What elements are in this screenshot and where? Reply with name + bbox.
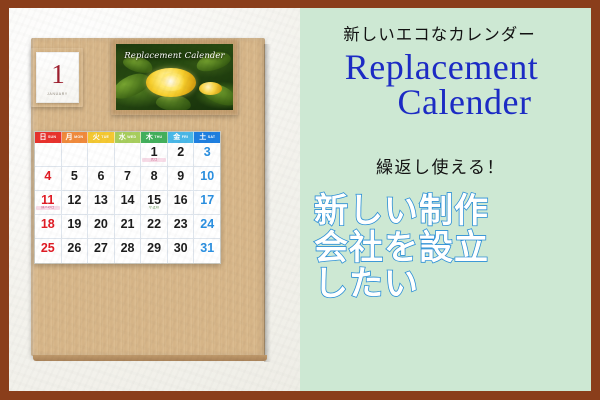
weekday-header-sat: 土SAT — [194, 132, 220, 143]
calendar-day-number: 21 — [115, 218, 141, 231]
rose-photo: Replacement Calender — [116, 44, 233, 110]
calendar-day-number: 25 — [35, 242, 61, 255]
headline-block: 新しい制作 会社を設立 したい — [314, 193, 585, 303]
calendar-day-number: 28 — [115, 242, 141, 255]
calendar-day-cell[interactable]: 5 — [62, 167, 89, 191]
photo-caption: Replacement Calender — [116, 51, 233, 61]
calendar-day-number: 11 — [35, 194, 61, 207]
weekday-kanji: 日 — [39, 134, 46, 141]
calendar-day-cell[interactable]: 21 — [115, 215, 142, 239]
board-shadow — [264, 44, 271, 362]
calendar-weekday-header: 日SUN月MON火TUE水WED木THU金FRI土SAT — [35, 132, 220, 143]
calendar-day-number: 17 — [194, 194, 220, 207]
weekday-abbr: FRI — [182, 136, 188, 140]
calendar-day-cell[interactable]: 30 — [168, 239, 195, 263]
tagline-sub: 繰返し使える！ — [300, 153, 581, 178]
poster-frame-inner: 1 JANUARY Replacement Calender — [9, 8, 591, 391]
calendar-day-number: 13 — [88, 194, 114, 207]
calendar-empty-cell — [115, 143, 142, 167]
calendar-week-row: 45678910 — [35, 167, 220, 191]
calendar-day-number: 10 — [194, 170, 220, 183]
month-name: JANUARY — [47, 92, 68, 96]
calendar-day-number: 29 — [141, 242, 167, 255]
calendar-empty-cell — [62, 143, 89, 167]
month-plate-frame: 1 JANUARY — [31, 48, 83, 107]
calendar-day-number: 7 — [115, 170, 141, 183]
calendar-day-cell[interactable]: 2 — [168, 143, 195, 167]
calendar-day-number: 3 — [194, 146, 220, 159]
calendar-day-note: 小正月 — [142, 206, 166, 210]
weekday-kanji: 金 — [173, 134, 180, 141]
product-photo-panel: 1 JANUARY Replacement Calender — [9, 8, 300, 391]
calendar-day-number: 20 — [88, 218, 114, 231]
weekday-header-mon: 月MON — [62, 132, 89, 143]
weekday-header-wed: 水WED — [115, 132, 142, 143]
calendar-day-number: 22 — [141, 218, 167, 231]
board-bottom-lip — [33, 355, 267, 361]
calendar-day-number: 30 — [168, 242, 194, 255]
tagline-top: 新しいエコなカレンダー — [300, 21, 579, 45]
calendar-day-cell[interactable]: 7 — [115, 167, 142, 191]
calendar-day-cell[interactable]: 27 — [88, 239, 115, 263]
weekday-abbr: WED — [127, 136, 136, 140]
calendar-day-cell[interactable]: 14 — [115, 191, 142, 215]
calendar-week-row: 18192021222324 — [35, 215, 220, 239]
weekday-header-tue: 火TUE — [88, 132, 115, 143]
calendar-day-number: 4 — [35, 170, 61, 183]
headline-line-3: したい — [314, 266, 585, 303]
month-plate: 1 JANUARY — [36, 52, 79, 103]
calendar-day-cell[interactable]: 16 — [168, 191, 195, 215]
calendar-day-cell[interactable]: 18 — [35, 215, 62, 239]
calendar-week-row: 25262728293031 — [35, 239, 220, 263]
calendar-day-number: 26 — [62, 242, 88, 255]
calendar-day-cell[interactable]: 29 — [141, 239, 168, 263]
weekday-abbr: SUN — [48, 136, 56, 140]
calendar-day-cell[interactable]: 19 — [62, 215, 89, 239]
calendar-day-cell[interactable]: 25 — [35, 239, 62, 263]
weekday-header-thu: 木THU — [141, 132, 168, 143]
calendar-day-number: 24 — [194, 218, 220, 231]
yellow-rose — [146, 68, 195, 97]
calendar-week-row: 1元日23 — [35, 143, 220, 167]
marketing-copy-panel: 新しいエコなカレンダー Replacement Calender 繰返し使える！… — [300, 8, 591, 391]
calendar-week-row: 11成人の日12131415小正月1617 — [35, 191, 220, 215]
weekday-kanji: 土 — [199, 134, 206, 141]
calendar-day-number: 31 — [194, 242, 220, 255]
calendar-day-cell[interactable]: 17 — [194, 191, 220, 215]
headline-line-2: 会社を設立 — [314, 230, 585, 267]
calendar-day-number: 19 — [62, 218, 88, 231]
calendar-day-cell[interactable]: 28 — [115, 239, 142, 263]
calendar-day-number: 12 — [62, 194, 88, 207]
weekday-abbr: MON — [74, 136, 83, 140]
calendar-day-cell[interactable]: 8 — [141, 167, 168, 191]
month-number: 1 — [51, 62, 64, 87]
calendar-day-cell[interactable]: 9 — [168, 167, 195, 191]
calendar-day-cell[interactable]: 31 — [194, 239, 220, 263]
calendar-day-number: 6 — [88, 170, 114, 183]
weekday-header-fri: 金FRI — [168, 132, 195, 143]
headline-line-1: 新しい制作 — [314, 193, 585, 230]
calendar-day-cell[interactable]: 10 — [194, 167, 220, 191]
calendar-day-cell[interactable]: 11成人の日 — [35, 191, 62, 215]
calendar-day-cell[interactable]: 26 — [62, 239, 89, 263]
calendar-day-number: 1 — [141, 146, 167, 159]
product-title-line1: Replacement — [300, 50, 583, 85]
calendar-day-cell[interactable]: 24 — [194, 215, 220, 239]
calendar-day-number: 5 — [62, 170, 88, 183]
calendar-body: 1元日234567891011成人の日12131415小正月1617181920… — [35, 143, 220, 263]
weekday-kanji: 水 — [119, 134, 126, 141]
calendar-day-cell[interactable]: 22 — [141, 215, 168, 239]
product-title: Replacement Calender — [300, 50, 583, 121]
calendar-day-cell[interactable]: 23 — [168, 215, 195, 239]
calendar-empty-cell — [35, 143, 62, 167]
weekday-abbr: THU — [154, 136, 162, 140]
calendar-day-cell[interactable]: 20 — [88, 215, 115, 239]
calendar-day-number: 16 — [168, 194, 194, 207]
weekday-abbr: TUE — [101, 136, 109, 140]
calendar-day-cell[interactable]: 1元日 — [141, 143, 168, 167]
calendar-day-note: 元日 — [142, 158, 166, 162]
calendar-day-cell[interactable]: 12 — [62, 191, 89, 215]
calendar-day-cell[interactable]: 6 — [88, 167, 115, 191]
weekday-abbr: SAT — [208, 136, 216, 140]
calendar-empty-cell — [88, 143, 115, 167]
product-title-line2: Calender — [300, 85, 583, 120]
calendar-day-number: 15 — [141, 194, 167, 207]
calendar-day-cell[interactable]: 15小正月 — [141, 191, 168, 215]
calendar-day-number: 9 — [168, 170, 194, 183]
calendar-day-cell[interactable]: 4 — [35, 167, 62, 191]
calendar-day-number: 2 — [168, 146, 194, 159]
weekday-kanji: 月 — [66, 134, 73, 141]
calendar-card: 日SUN月MON火TUE水WED木THU金FRI土SAT 1元日23456789… — [34, 131, 221, 264]
weekday-kanji: 火 — [93, 134, 100, 141]
calendar-day-cell[interactable]: 13 — [88, 191, 115, 215]
calendar-day-number: 23 — [168, 218, 194, 231]
weekday-header-sun: 日SUN — [35, 132, 62, 143]
calendar-day-note: 成人の日 — [36, 206, 60, 210]
calendar-day-number: 8 — [141, 170, 167, 183]
calendar-day-cell[interactable]: 3 — [194, 143, 220, 167]
weekday-kanji: 木 — [146, 134, 153, 141]
poster-canvas: 1 JANUARY Replacement Calender — [0, 0, 600, 400]
calendar-day-number: 18 — [35, 218, 61, 231]
calendar-day-number: 27 — [88, 242, 114, 255]
photo-frame: Replacement Calender — [111, 39, 238, 115]
calendar-day-number: 14 — [115, 194, 141, 207]
